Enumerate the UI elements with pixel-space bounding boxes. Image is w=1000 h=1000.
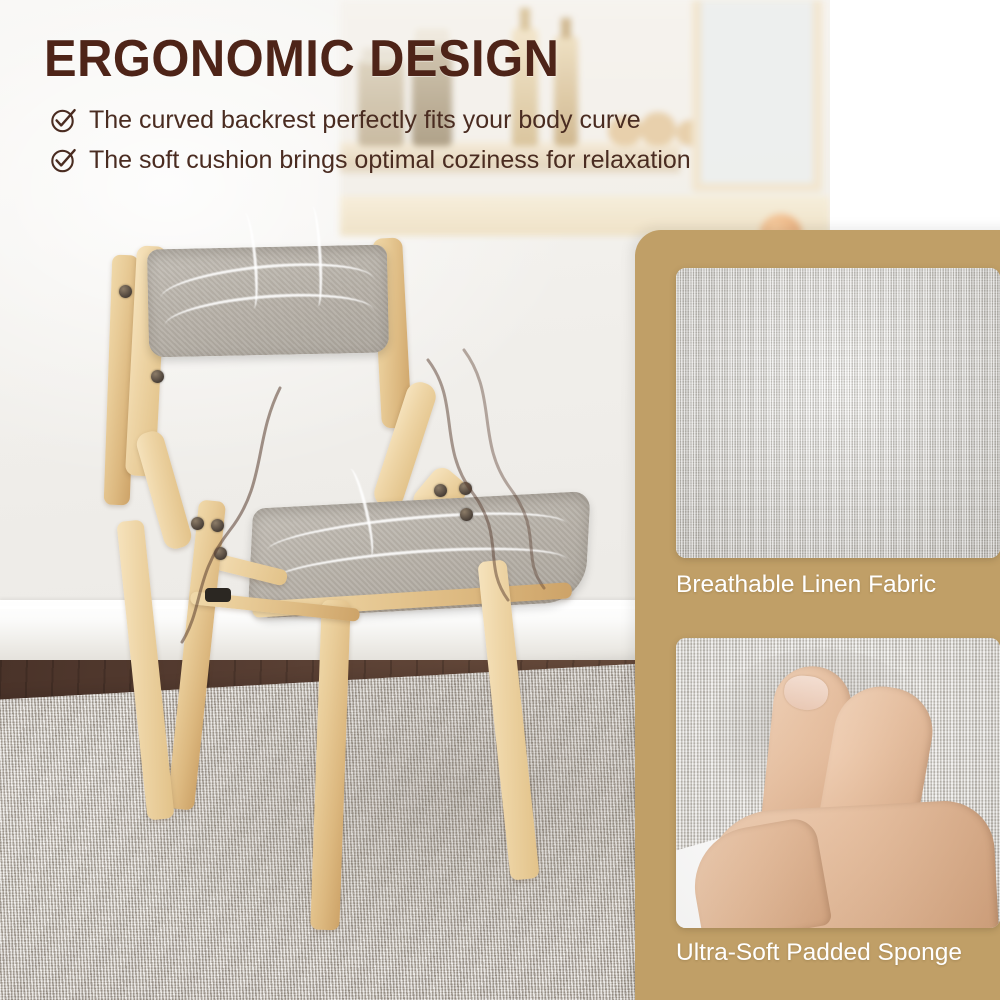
ergonomic-motion-lines-right bbox=[420, 350, 560, 610]
linen-fabric-swatch-image bbox=[676, 268, 1000, 558]
linen-fabric-caption: Breathable Linen Fabric bbox=[676, 570, 936, 600]
chair-front-leg-center bbox=[310, 600, 350, 931]
product-feature-banner: ERGONOMIC DESIGN The curved backrest per… bbox=[0, 0, 1000, 1000]
check-circle-icon bbox=[50, 147, 77, 174]
padded-sponge-caption: Ultra-Soft Padded Sponge bbox=[676, 938, 962, 968]
feature-bullet-list: The curved backrest perfectly fits your … bbox=[50, 104, 804, 176]
chair-rivet bbox=[119, 285, 132, 298]
chair-backrest-pad bbox=[147, 244, 389, 357]
headline-block: ERGONOMIC DESIGN The curved backrest per… bbox=[44, 30, 804, 184]
chair-rear-leg-left bbox=[116, 519, 174, 820]
page-title: ERGONOMIC DESIGN bbox=[44, 30, 758, 88]
list-item: The soft cushion brings optimal coziness… bbox=[50, 144, 804, 176]
check-circle-icon bbox=[50, 107, 77, 134]
bullet-text: The soft cushion brings optimal coziness… bbox=[89, 144, 691, 176]
list-item: The curved backrest perfectly fits your … bbox=[50, 104, 804, 136]
ergonomic-motion-lines-left bbox=[170, 380, 300, 660]
swatch-vignette bbox=[676, 268, 1000, 558]
bullet-text: The curved backrest perfectly fits your … bbox=[89, 104, 641, 136]
swatch-vignette bbox=[676, 638, 1000, 928]
chair-rivet bbox=[151, 370, 164, 383]
padded-sponge-image bbox=[676, 638, 1000, 928]
